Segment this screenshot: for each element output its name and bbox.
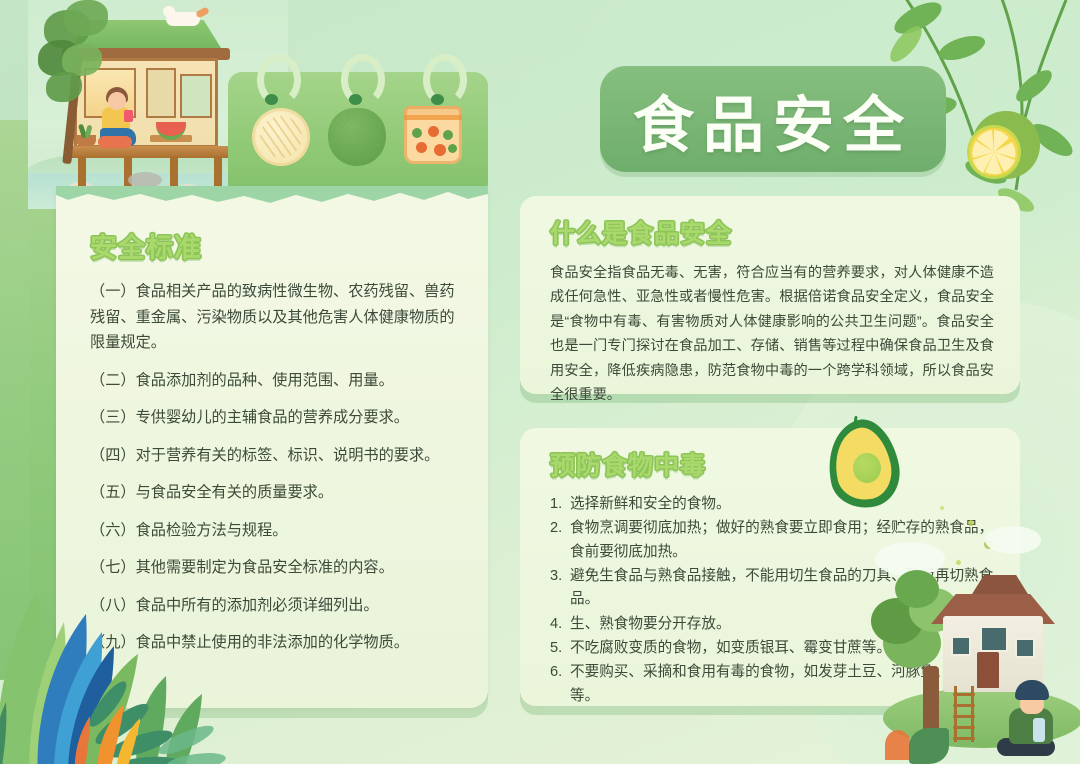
right-card-1-heading: 什么是食品安全: [550, 214, 994, 250]
standard-item: （六）食品检验方法与规程。: [90, 518, 458, 544]
standard-item: （四）对于营养有关的标签、标识、说明书的要求。: [90, 443, 458, 469]
boy-with-treehouse-illustration: [865, 514, 1080, 764]
page-title: 食品安全: [633, 75, 913, 164]
standard-item: （五）与食品安全有关的质量要求。: [90, 480, 458, 506]
binder-ring-dot: [265, 94, 278, 105]
green-pumpkin-icon: [328, 108, 386, 166]
list-number: 2.: [550, 517, 562, 540]
list-item: 1.选择新鲜和安全的食物。: [550, 493, 994, 516]
binder-ring-icon: [257, 54, 301, 106]
juice-cup-icon: [124, 110, 133, 122]
right-card-2-heading: 预防食物中毒: [550, 446, 994, 482]
standard-item: （二）食品添加剂的品种、使用范围、用量。: [90, 368, 458, 394]
list-text: 不吃腐败变质的食物，如变质银耳、霉变甘蔗等。: [570, 640, 891, 656]
avocado-icon: [828, 420, 898, 508]
binder-ring-icon: [341, 54, 385, 106]
what-is-food-safety-card: 什么是食品安全 食品安全指食品无毒、无害，符合应当有的营养要求，对人体健康不造成…: [520, 196, 1020, 394]
right-card-1-paragraph: 食品安全指食品无毒、无害，符合应当有的营养要求，对人体健康不造成任何急性、亚急性…: [550, 261, 994, 408]
standard-item: （三）专供婴幼儿的主辅食品的营养成分要求。: [90, 405, 458, 431]
binder-ring-icon: [423, 54, 467, 106]
binder-ring-dot: [431, 94, 444, 105]
left-card-heading: 安全标准: [90, 226, 458, 265]
pickle-jar-icon: [404, 106, 462, 164]
water-bottle-icon: [1033, 718, 1045, 742]
torn-paper-edge: [56, 186, 488, 208]
list-text: 生、熟食物要分开存放。: [570, 616, 731, 632]
list-number: 6.: [550, 661, 562, 684]
ladder-icon: [953, 686, 975, 742]
cat-icon: [166, 12, 200, 26]
binder-ring-dot: [349, 94, 362, 105]
list-number: 3.: [550, 565, 562, 588]
list-number: 5.: [550, 637, 562, 660]
noodle-ball-icon: [252, 108, 310, 166]
list-number: 4.: [550, 613, 562, 636]
hat-icon: [1015, 680, 1049, 700]
main-title-plate: 食品安全: [600, 66, 946, 172]
list-number: 1.: [550, 493, 562, 516]
list-text: 选择新鲜和安全的食物。: [570, 496, 731, 512]
food-safety-poster: 安全标准 （一）食品相关产品的致病性微生物、农药残留、兽药残留、重金属、污染物质…: [0, 0, 1080, 764]
standard-item: （一）食品相关产品的致病性微生物、农药残留、兽药残留、重金属、污染物质以及其他危…: [90, 279, 458, 356]
tropical-foliage-decoration: [0, 584, 280, 764]
